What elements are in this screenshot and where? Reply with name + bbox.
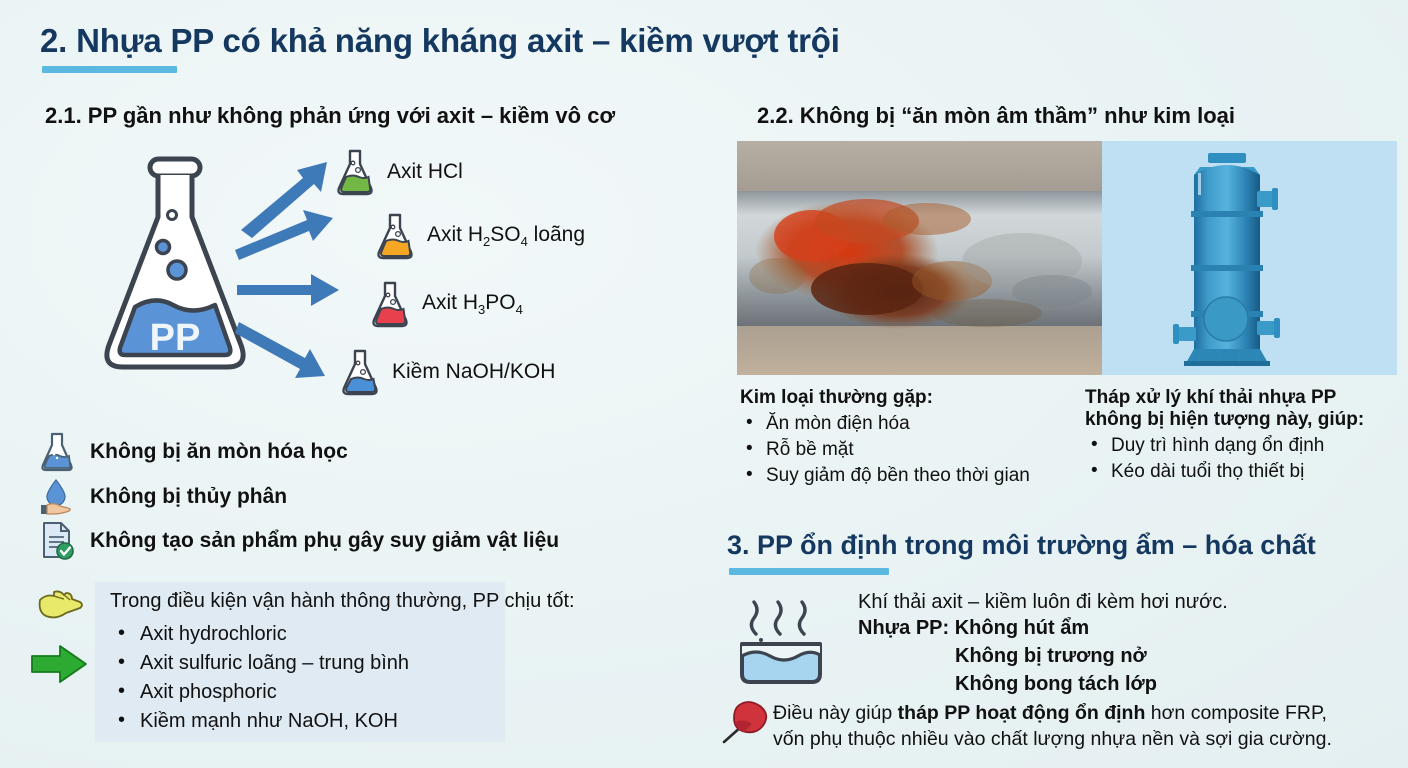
feature-item: Không bị thủy phân: [40, 478, 287, 516]
document-check-icon: [40, 521, 74, 561]
chemical-label: Axit H3PO4: [422, 291, 523, 317]
subsection-2-2-title: 2.2. Không bị “ăn mòn âm thầm” như kim l…: [757, 103, 1235, 129]
list-item: Rỗ bề mặt: [740, 437, 1090, 463]
pp-tower-caption-block: Tháp xử lý khí thải nhựa PP không bị hiệ…: [1085, 387, 1405, 485]
feature-label: Không tạo sản phẩm phụ gây suy giảm vật …: [90, 529, 559, 553]
note-text-line2: vốn phụ thuộc nhiều vào chất lượng nhựa …: [773, 728, 1332, 750]
feature-item: Không tạo sản phẩm phụ gây suy giảm vật …: [40, 521, 559, 561]
highlight-list: Axit hydrochloric Axit sulfuric loãng – …: [110, 620, 409, 736]
page-title: 2. Nhựa PP có khả năng kháng axit – kiềm…: [40, 22, 840, 60]
caption-heading-line1: Tháp xử lý khí thải nhựa PP: [1085, 387, 1405, 409]
chemical-label: Axit HCl: [387, 160, 463, 184]
feature-label: Không bị ăn mòn hóa học: [90, 440, 348, 464]
flask-icon: [335, 148, 375, 196]
caption-list: Ăn mòn điện hóa Rỗ bề mặt Suy giảm độ bề…: [740, 411, 1090, 489]
note-text-bold: tháp PP hoạt động ổn định: [898, 702, 1146, 724]
chemical-label: Kiềm NaOH/KOH: [392, 360, 555, 384]
metal-caption-block: Kim loại thường gặp: Ăn mòn điện hóa Rỗ …: [740, 387, 1090, 489]
list-item: Ăn mòn điện hóa: [740, 411, 1090, 437]
section-3-note: Điều này giúp tháp PP hoạt động ổn định …: [773, 700, 1398, 752]
pp-scrubber-tower-photo: [1102, 141, 1397, 375]
list-item: Axit phosphoric: [110, 678, 409, 707]
comparison-photos: [737, 141, 1397, 375]
pointing-hand-icon: [36, 588, 84, 626]
slide-root: 2. Nhựa PP có khả năng kháng axit – kiềm…: [0, 0, 1408, 768]
section-3-line-2: Không bị trương nở: [955, 645, 1147, 668]
list-item: Duy trì hình dạng ổn định: [1085, 433, 1405, 459]
caption-heading-line2: không bị hiện tượng này, giúp:: [1085, 409, 1405, 431]
caption-heading: Kim loại thường gặp:: [740, 387, 1090, 409]
flask-icon: [340, 348, 380, 396]
note-text-post: hơn composite FRP,: [1145, 702, 1327, 724]
chemical-row-h3po4: Axit H3PO4: [370, 280, 523, 328]
list-item: Kiềm mạnh như NaOH, KOH: [110, 707, 409, 736]
list-item: Axit hydrochloric: [110, 620, 409, 649]
pp-reaction-diagram: PP Axit HCl: [40, 140, 690, 415]
feature-label: Không bị thủy phân: [90, 485, 287, 509]
list-item: Kéo dài tuổi thọ thiết bị: [1085, 459, 1405, 485]
chemical-row-hcl: Axit HCl: [335, 148, 463, 196]
section-3-line-0: Khí thải axit – kiềm luôn đi kèm hơi nướ…: [858, 591, 1228, 614]
section-3-line-1: Nhựa PP: Không hút ẩm: [858, 617, 1089, 640]
caption-list: Duy trì hình dạng ổn định Kéo dài tuổi t…: [1085, 433, 1405, 485]
flask-icon: [40, 432, 74, 472]
section-3-line-3: Không bong tách lớp: [955, 673, 1157, 696]
subsection-2-1-title: 2.1. PP gần như không phản ứng với axit …: [45, 103, 615, 129]
note-text-pre: Điều này giúp: [773, 702, 898, 724]
green-arrow-icon: [30, 644, 88, 684]
feature-item: Không bị ăn mòn hóa học: [40, 432, 348, 472]
highlight-heading: Trong điều kiện vận hành thông thường, P…: [110, 590, 575, 613]
pp-source-flask-icon: PP: [95, 155, 255, 380]
svg-text:PP: PP: [150, 317, 201, 359]
title-underline: [42, 66, 177, 73]
section-3-title: 3. PP ổn định trong môi trường ẩm – hóa …: [727, 530, 1316, 561]
flask-icon: [375, 212, 415, 260]
steaming-water-icon: [728, 590, 833, 690]
list-item: Suy giảm độ bền theo thời gian: [740, 463, 1090, 489]
list-item: Axit sulfuric loãng – trung bình: [110, 649, 409, 678]
rusted-metal-pipe-photo: [737, 141, 1102, 375]
chemical-row-naoh: Kiềm NaOH/KOH: [340, 348, 555, 396]
pushpin-icon: [722, 698, 774, 746]
chemical-label: Axit H2SO4 loãng: [427, 223, 585, 249]
flask-icon: [370, 280, 410, 328]
water-drop-hand-icon: [40, 478, 74, 516]
chemical-row-h2so4: Axit H2SO4 loãng: [375, 212, 585, 260]
section-3-underline: [729, 568, 889, 575]
